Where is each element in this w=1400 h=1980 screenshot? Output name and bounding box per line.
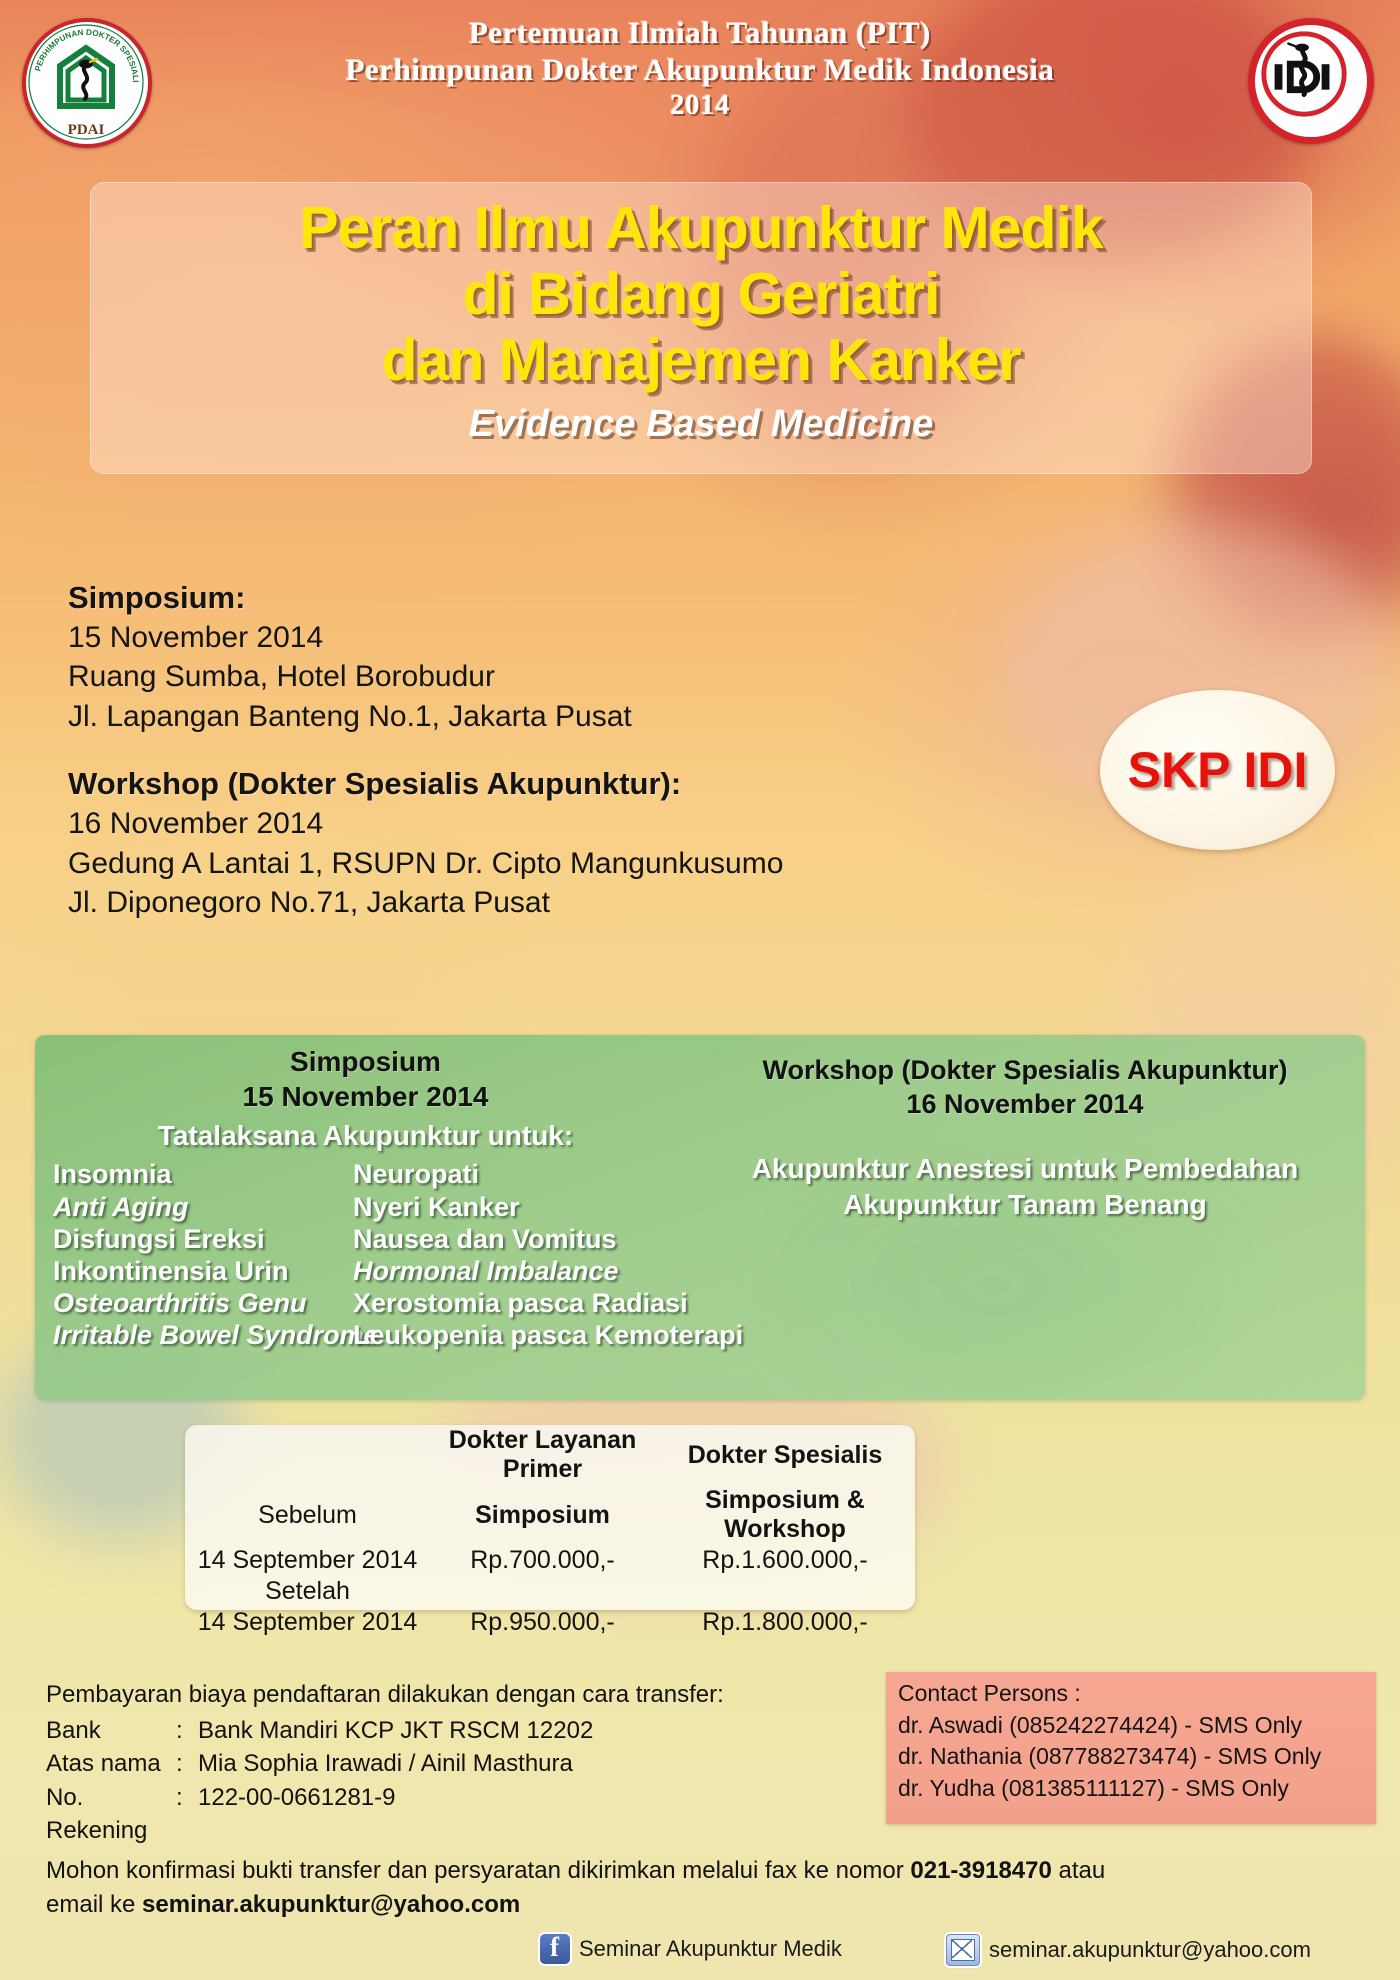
contact-person: dr. Aswadi (085242274424) - SMS Only — [898, 1710, 1366, 1742]
facebook-icon[interactable] — [540, 1934, 570, 1964]
social-bar: Seminar Akupunktur Medik seminar.akupunk… — [540, 1932, 1360, 1972]
payment-value: 122-00-0661281-9 — [198, 1781, 396, 1848]
payment-key: No. Rekening — [46, 1781, 176, 1848]
price-header-spesialis-2: Simposium & Workshop — [655, 1485, 915, 1545]
workshop-topic-item: Akupunktur Anestesi untuk Pembedahan — [695, 1151, 1355, 1187]
main-title-line-3: dan Manajemen Kanker — [91, 327, 1311, 393]
topics-workshop-date: 16 November 2014 — [695, 1087, 1355, 1121]
note-line-1: Mohon konfirmasi bukti transfer dan pers… — [46, 1854, 1366, 1888]
idi-logo — [1248, 18, 1374, 144]
price-header-spesialis-1: Dokter Spesialis — [655, 1425, 915, 1485]
table-row: Setelah — [185, 1576, 915, 1607]
simposium-date: 15 November 2014 — [68, 618, 968, 658]
price-header-primer-1: Dokter Layanan Primer — [430, 1425, 655, 1485]
skp-idi-badge: SKP IDI — [1100, 690, 1335, 850]
note-text-2: atau — [1052, 1857, 1105, 1884]
topic-item: Inkontinensia Urin — [53, 1255, 353, 1287]
topics-simposium-lists: Insomnia Anti Aging Disfungsi Ereksi Ink… — [43, 1158, 688, 1351]
payment-intro: Pembayaran biaya pendaftaran dilakukan d… — [46, 1678, 746, 1712]
price-header-primer-2: Simposium — [430, 1485, 655, 1545]
topic-item: Hormonal Imbalance — [353, 1255, 693, 1287]
event-details: Simposium: 15 November 2014 Ruang Sumba,… — [68, 578, 968, 923]
payment-value: Bank Mandiri KCP JKT RSCM 12202 — [198, 1714, 593, 1748]
simposium-address: Jl. Lapangan Banteng No.1, Jakarta Pusat — [68, 697, 968, 737]
topic-item: Anti Aging — [53, 1191, 353, 1223]
header-line-3: 2014 — [180, 88, 1220, 123]
payment-row: No. Rekening : 122-00-0661281-9 — [46, 1781, 746, 1848]
note-text-3: email ke — [46, 1891, 142, 1918]
topic-item: Neuropati — [353, 1158, 693, 1190]
main-title-line-1: Peran Ilmu Akupunktur Medik — [91, 195, 1311, 261]
price-header-blank — [185, 1425, 430, 1485]
main-subtitle: Evidence Based Medicine — [91, 403, 1311, 446]
workshop-heading: Workshop (Dokter Spesialis Akupunktur): — [68, 764, 968, 804]
table-row: Dokter Layanan Primer Dokter Spesialis — [185, 1425, 915, 1485]
note-text-1: Mohon konfirmasi bukti transfer dan pers… — [46, 1857, 910, 1884]
header-title: Pertemuan Ilmiah Tahunan (PIT) Perhimpun… — [180, 14, 1220, 123]
confirmation-note: Mohon konfirmasi bukti transfer dan pers… — [46, 1854, 1366, 1922]
topics-simposium-title: Simposium — [43, 1045, 688, 1080]
contact-person: dr. Yudha (081385111127) - SMS Only — [898, 1773, 1366, 1805]
price-primer-2: Rp.950.000,- — [430, 1607, 655, 1638]
fax-number: 021-3918470 — [910, 1857, 1051, 1884]
price-primer-1: Rp.700.000,- — [430, 1545, 655, 1576]
payment-key: Bank — [46, 1714, 176, 1748]
header-line-1: Pertemuan Ilmiah Tahunan (PIT) — [180, 14, 1220, 51]
details-spacer — [68, 736, 968, 764]
topic-item: Insomnia — [53, 1158, 353, 1190]
payment-row: Bank : Bank Mandiri KCP JKT RSCM 12202 — [46, 1714, 746, 1748]
topics-column-right: Neuropati Nyeri Kanker Nausea dan Vomitu… — [353, 1158, 693, 1351]
price-spesialis-2: Rp.1.800.000,- — [655, 1607, 915, 1638]
topics-workshop: Workshop (Dokter Spesialis Akupunktur) 1… — [695, 1053, 1355, 1223]
pdai-logo: PERHIMPUNAN DOKTER SPESIALIS AKUPUNKTUR … — [22, 18, 152, 148]
topics-column-left: Insomnia Anti Aging Disfungsi Ereksi Ink… — [53, 1158, 353, 1351]
contact-box: Contact Persons : dr. Aswadi (0852422744… — [886, 1672, 1376, 1824]
price-spacer-b — [655, 1576, 915, 1607]
topics-simposium-subtitle: Tatalaksana Akupunktur untuk: — [43, 1120, 688, 1152]
price-table-panel: Dokter Layanan Primer Dokter Spesialis S… — [185, 1425, 915, 1610]
topic-item: Xerostomia pasca Radiasi — [353, 1287, 693, 1319]
topic-item: Leukopenia pasca Kemoterapi — [353, 1319, 693, 1351]
contact-title: Contact Persons : — [898, 1678, 1366, 1710]
poster-root: PERHIMPUNAN DOKTER SPESIALIS AKUPUNKTUR … — [0, 0, 1400, 1980]
poster-header: PERHIMPUNAN DOKTER SPESIALIS AKUPUNKTUR … — [0, 0, 1400, 170]
payment-key: Atas nama — [46, 1747, 176, 1781]
simposium-heading: Simposium: — [68, 578, 968, 618]
topics-simposium: Simposium 15 November 2014 Tatalaksana A… — [43, 1045, 688, 1351]
payment-value: Mia Sophia Irawadi / Ainil Masthura — [198, 1747, 573, 1781]
facebook-link[interactable]: Seminar Akupunktur Medik — [540, 1934, 842, 1964]
header-line-2: Perhimpunan Dokter Akupunktur Medik Indo… — [180, 51, 1220, 88]
price-period-label-1: Sebelum — [185, 1485, 430, 1545]
topic-item: Nyeri Kanker — [353, 1191, 693, 1223]
price-period-label-2: Setelah — [185, 1576, 430, 1607]
note-email: seminar.akupunktur@yahoo.com — [142, 1891, 520, 1918]
payment-row: Atas nama : Mia Sophia Irawadi / Ainil M… — [46, 1747, 746, 1781]
topic-item: Osteoarthritis Genu — [53, 1287, 353, 1319]
payment-separator: : — [176, 1781, 198, 1848]
topics-simposium-date: 15 November 2014 — [43, 1080, 688, 1115]
workshop-date: 16 November 2014 — [68, 804, 968, 844]
envelope-icon[interactable] — [946, 1934, 980, 1966]
skp-idi-label: SKP IDI — [1128, 741, 1308, 799]
svg-text:PDAI: PDAI — [68, 122, 105, 138]
email-label: seminar.akupunktur@yahoo.com — [989, 1937, 1311, 1963]
price-period-date-2: 14 September 2014 — [185, 1607, 430, 1638]
facebook-label: Seminar Akupunktur Medik — [579, 1936, 842, 1962]
workshop-address: Jl. Diponegoro No.71, Jakarta Pusat — [68, 883, 968, 923]
table-row: Sebelum Simposium Simposium & Workshop — [185, 1485, 915, 1545]
payment-separator: : — [176, 1714, 198, 1748]
price-period-date-1: 14 September 2014 — [185, 1545, 430, 1576]
main-title-panel: Peran Ilmu Akupunktur Medik di Bidang Ge… — [90, 182, 1312, 474]
topics-workshop-items: Akupunktur Anestesi untuk Pembedahan Aku… — [695, 1151, 1355, 1223]
payment-info: Pembayaran biaya pendaftaran dilakukan d… — [46, 1678, 746, 1848]
topics-panel: Simposium 15 November 2014 Tatalaksana A… — [35, 1035, 1365, 1400]
email-link[interactable]: seminar.akupunktur@yahoo.com — [946, 1934, 1311, 1966]
price-table: Dokter Layanan Primer Dokter Spesialis S… — [185, 1425, 915, 1638]
main-title: Peran Ilmu Akupunktur Medik di Bidang Ge… — [91, 183, 1311, 393]
main-title-line-2: di Bidang Geriatri — [91, 261, 1311, 327]
workshop-topic-item: Akupunktur Tanam Benang — [695, 1187, 1355, 1223]
simposium-venue: Ruang Sumba, Hotel Borobudur — [68, 657, 968, 697]
payment-separator: : — [176, 1747, 198, 1781]
topic-item: Nausea dan Vomitus — [353, 1223, 693, 1255]
contact-person: dr. Nathania (087788273474) - SMS Only — [898, 1741, 1366, 1773]
topic-item: Disfungsi Ereksi — [53, 1223, 353, 1255]
price-spesialis-1: Rp.1.600.000,- — [655, 1545, 915, 1576]
topics-workshop-title: Workshop (Dokter Spesialis Akupunktur) — [695, 1053, 1355, 1087]
workshop-venue: Gedung A Lantai 1, RSUPN Dr. Cipto Mangu… — [68, 844, 968, 884]
note-line-2: email ke seminar.akupunktur@yahoo.com — [46, 1888, 1366, 1922]
table-row: 14 September 2014 Rp.700.000,- Rp.1.600.… — [185, 1545, 915, 1576]
table-row: 14 September 2014 Rp.950.000,- Rp.1.800.… — [185, 1607, 915, 1638]
topic-item: Irritable Bowel Syndrome — [53, 1319, 353, 1351]
price-spacer-a — [430, 1576, 655, 1607]
